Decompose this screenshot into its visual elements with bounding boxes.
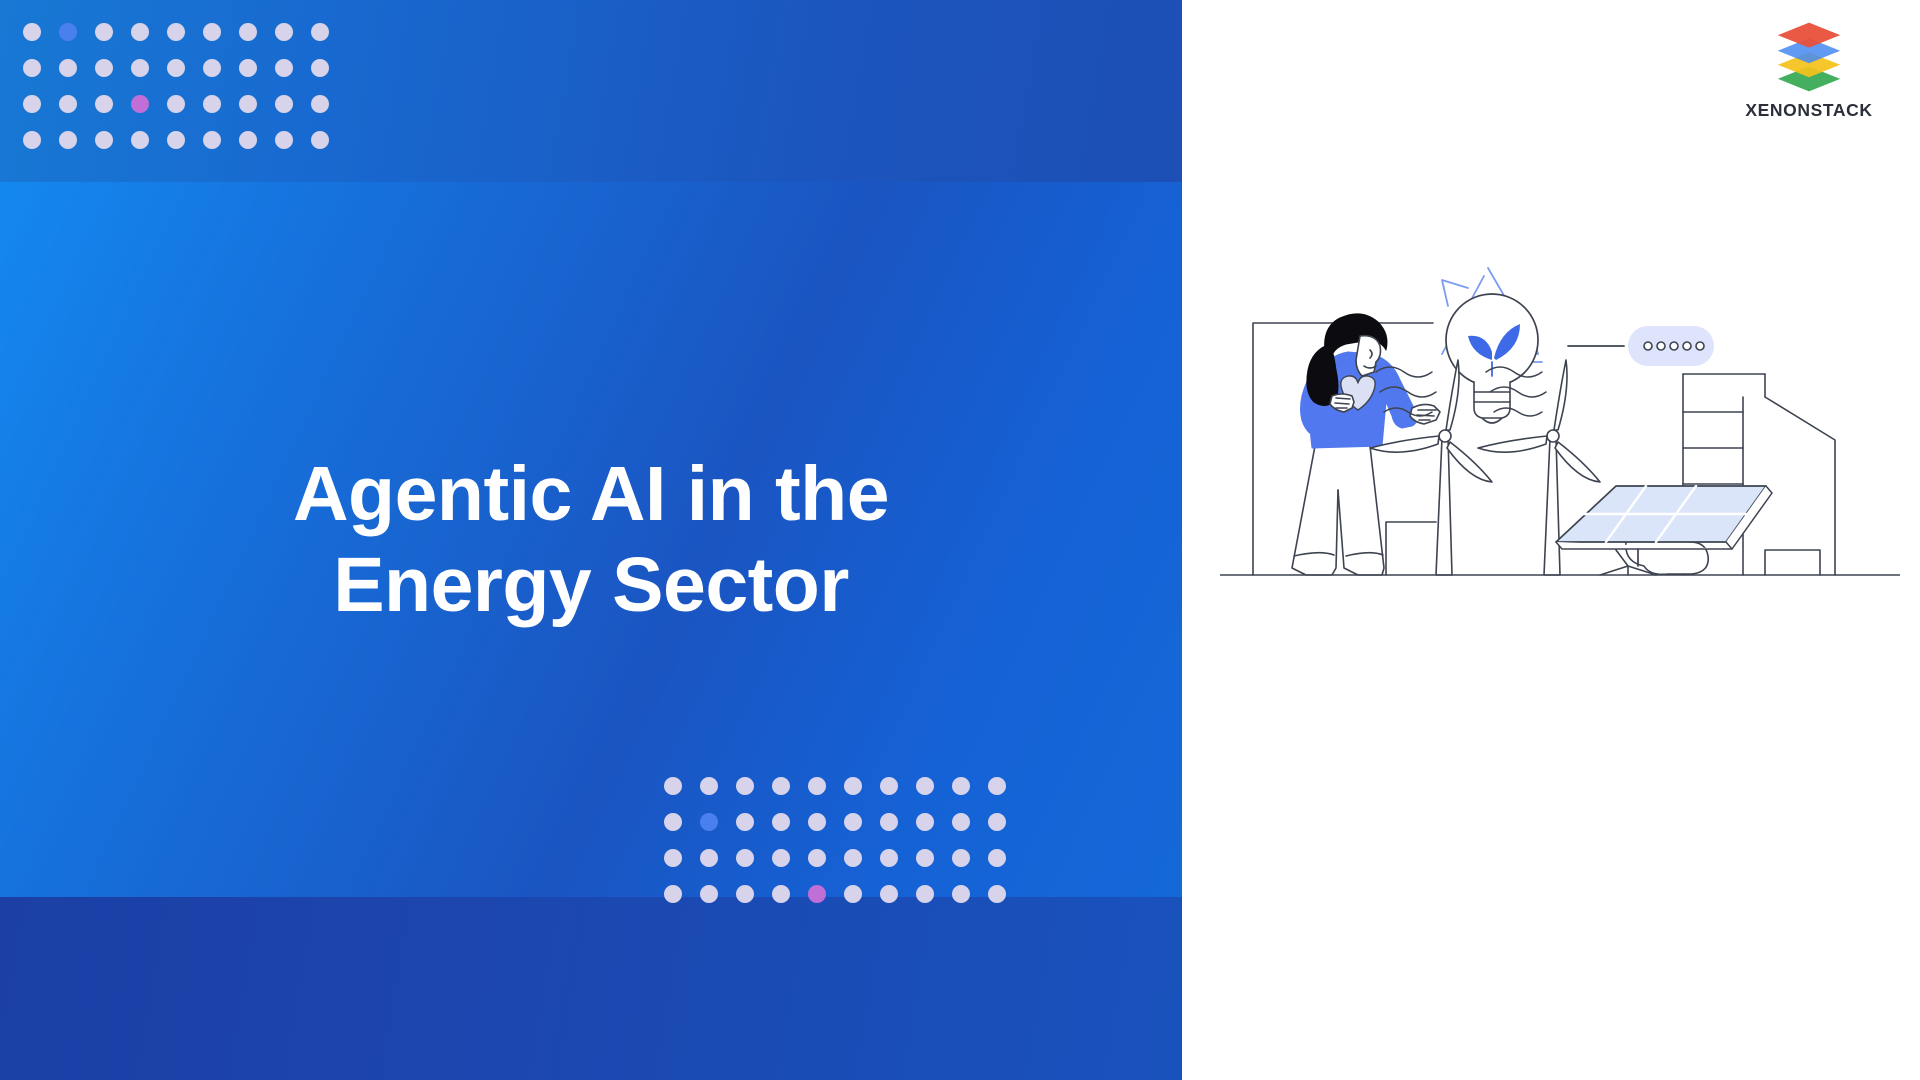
chat-pill-dots <box>1568 326 1714 366</box>
page-title: Agentic AI in the Energy Sector <box>151 449 1031 631</box>
person-figure <box>1292 446 1384 575</box>
energy-illustration <box>1220 250 1900 640</box>
person-right-hand <box>1410 404 1440 424</box>
low-wall <box>1386 522 1436 575</box>
title-container: Agentic AI in the Energy Sector <box>0 0 1182 1080</box>
page-title-line-2: Energy Sector <box>151 540 1031 631</box>
slide-root: Agentic AI in the Energy Sector XENONSTA… <box>0 0 1920 1080</box>
page-title-line-1: Agentic AI in the <box>151 449 1031 540</box>
lightbulb-with-leaves <box>1446 294 1538 423</box>
stack-layers-icon <box>1770 18 1848 96</box>
brand-logo: XENONSTACK <box>1724 18 1894 121</box>
office-building <box>1683 374 1835 575</box>
brand-name: XENONSTACK <box>1745 100 1872 121</box>
